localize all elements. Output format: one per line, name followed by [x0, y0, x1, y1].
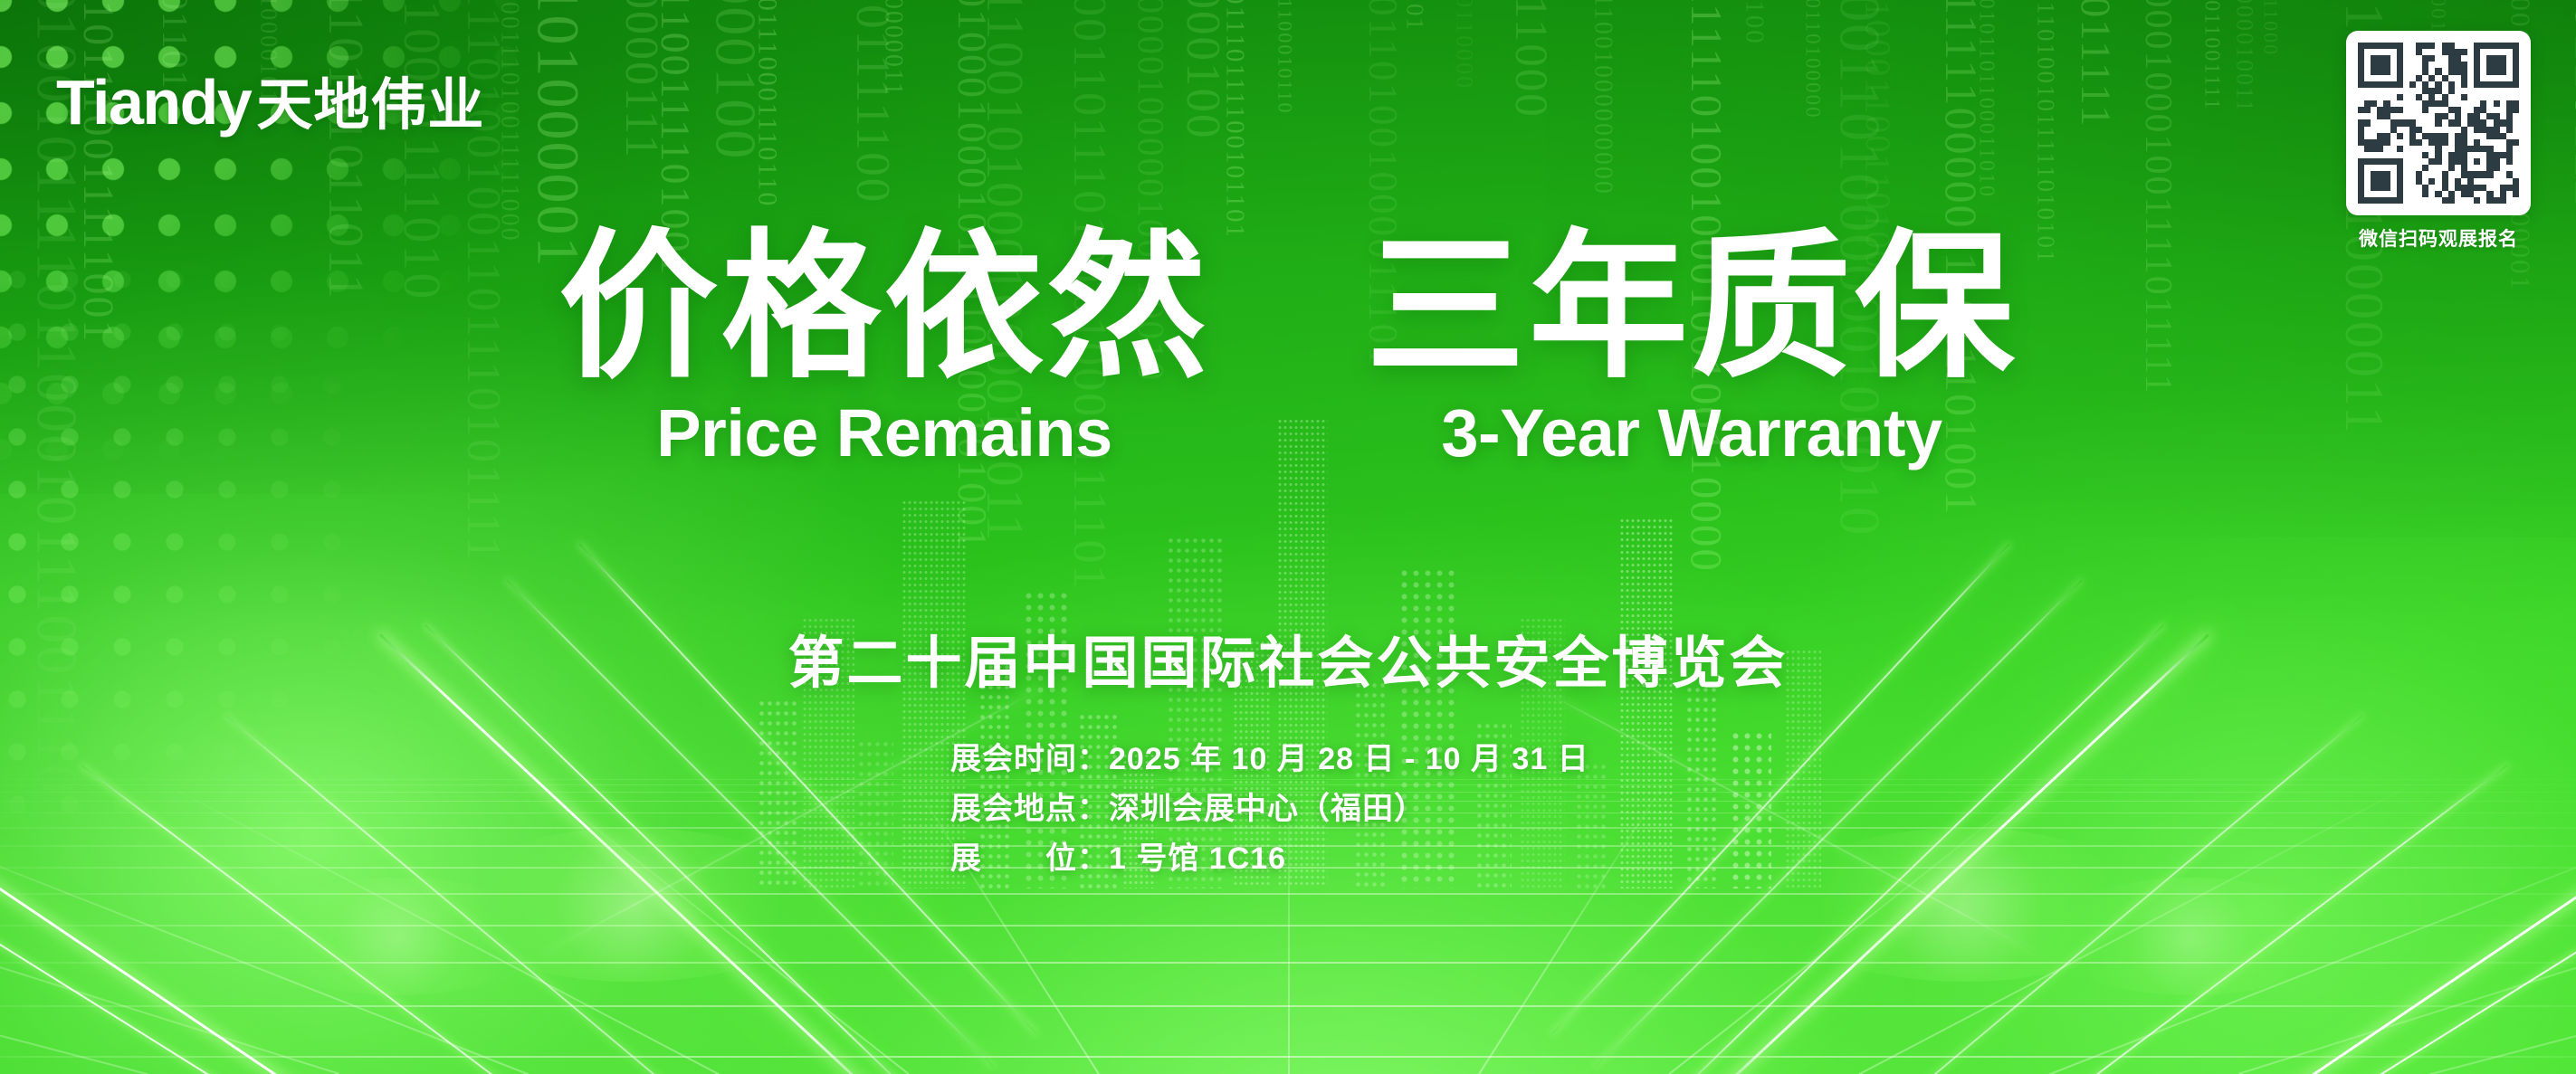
qr-module [2403, 119, 2409, 126]
qr-module [2513, 81, 2519, 88]
qr-module [2506, 55, 2513, 62]
qr-module [2409, 197, 2416, 204]
qr-module [2461, 191, 2467, 197]
qr-module [2422, 88, 2428, 94]
qr-module [2422, 178, 2428, 185]
qr-module [2455, 158, 2461, 165]
qr-module [2358, 146, 2364, 152]
qr-module [2435, 133, 2441, 139]
qr-module [2467, 81, 2474, 88]
qr-module [2486, 191, 2493, 197]
qr-module [2500, 158, 2506, 165]
qr-module [2513, 191, 2519, 197]
qr-module [2513, 165, 2519, 171]
qr-module [2383, 81, 2390, 88]
qr-module [2494, 146, 2500, 152]
qr-module [2428, 107, 2435, 113]
qr-module [2448, 158, 2455, 165]
qr-module [2474, 185, 2480, 191]
qr-module [2358, 81, 2364, 88]
qr-module [2461, 88, 2467, 94]
qr-module [2435, 197, 2441, 204]
qr-module [2461, 75, 2467, 81]
qr-module [2506, 75, 2513, 81]
qr-module [2435, 49, 2441, 55]
qr-module [2513, 113, 2519, 119]
qr-module [2442, 49, 2448, 55]
qr-module [2435, 81, 2441, 88]
light-glow-spot [2041, 878, 2340, 995]
qr-module [2494, 127, 2500, 133]
qr-module [2455, 55, 2461, 62]
qr-module [2397, 165, 2403, 171]
qr-module [2428, 191, 2435, 197]
qr-module [2422, 62, 2428, 68]
qr-module [2486, 146, 2493, 152]
qr-module [2461, 107, 2467, 113]
qr-module [2358, 139, 2364, 146]
qr-module [2480, 94, 2486, 100]
qr-module [2494, 68, 2500, 74]
qr-module [2435, 191, 2441, 197]
qr-module [2486, 43, 2493, 49]
qr-module [2428, 139, 2435, 146]
qr-module [2506, 146, 2513, 152]
qr-module [2358, 119, 2364, 126]
qr-module [2500, 49, 2506, 55]
qr-module [2422, 43, 2428, 49]
qr-module [2397, 43, 2403, 49]
qr-module [2371, 107, 2377, 113]
qr-module [2435, 119, 2441, 126]
qr-module [2358, 68, 2364, 74]
qr-module [2403, 178, 2409, 185]
qr-module [2377, 171, 2383, 177]
qr-module [2500, 197, 2506, 204]
qr-module [2448, 191, 2455, 197]
qr-module [2474, 158, 2480, 165]
qr-module [2383, 146, 2390, 152]
qr-module [2474, 94, 2480, 100]
qr-module [2390, 94, 2397, 100]
qr-module [2358, 197, 2364, 204]
qr-module [2371, 119, 2377, 126]
qr-module [2390, 119, 2397, 126]
qr-module [2461, 171, 2467, 177]
qr-module [2371, 94, 2377, 100]
qr-module [2467, 178, 2474, 185]
qr-module [2474, 68, 2480, 74]
qr-module [2500, 100, 2506, 107]
qr-module [2422, 55, 2428, 62]
event-detail-value: 1 号馆 1C16 [1109, 834, 1286, 884]
qr-module [2422, 185, 2428, 191]
qr-module [2480, 158, 2486, 165]
qr-module [2371, 43, 2377, 49]
qr-module [2486, 119, 2493, 126]
qr-module [2435, 62, 2441, 68]
qr-module [2377, 88, 2383, 94]
qr-module [2500, 146, 2506, 152]
qr-module [2390, 171, 2397, 177]
qr-module [2422, 139, 2428, 146]
qr-module [2397, 171, 2403, 177]
qr-module [2428, 133, 2435, 139]
qr-module [2390, 158, 2397, 165]
qr-module [2371, 197, 2377, 204]
qr-module [2455, 75, 2461, 81]
event-detail-row: 展会时间：2025 年 10 月 28 日 - 10 月 31 日 [950, 735, 1589, 784]
qr-module [2513, 158, 2519, 165]
qr-module [2428, 68, 2435, 74]
qr-module [2358, 43, 2364, 49]
qr-module [2448, 119, 2455, 126]
headline-right: 三年质保 3-Year Warranty [1366, 228, 2018, 467]
qr-module [2480, 165, 2486, 171]
qr-module [2435, 55, 2441, 62]
qr-module [2480, 49, 2486, 55]
qr-module [2455, 191, 2461, 197]
qr-module [2409, 43, 2416, 49]
qr-module [2442, 62, 2448, 68]
qr-module [2506, 43, 2513, 49]
qr-module [2506, 107, 2513, 113]
qr-module [2448, 197, 2455, 204]
qr-module [2461, 152, 2467, 158]
qr-module [2422, 197, 2428, 204]
qr-module [2461, 68, 2467, 74]
qr-module [2486, 94, 2493, 100]
qr-module [2506, 158, 2513, 165]
qr-module [2397, 75, 2403, 81]
event-detail-row: 展 位：1 号馆 1C16 [950, 834, 1589, 884]
qr-module [2371, 55, 2377, 62]
qr-module [2383, 75, 2390, 81]
qr-module [2358, 100, 2364, 107]
qr-module [2467, 185, 2474, 191]
qr-module [2371, 139, 2377, 146]
qr-module [2390, 178, 2397, 185]
qr-module [2422, 49, 2428, 55]
qr-module [2364, 139, 2371, 146]
qr-module [2397, 62, 2403, 68]
qr-module [2435, 68, 2441, 74]
qr-module [2448, 55, 2455, 62]
qr-module [2506, 88, 2513, 94]
qr-module [2486, 100, 2493, 107]
qr-module [2500, 178, 2506, 185]
qr-module [2448, 75, 2455, 81]
qr-module [2500, 139, 2506, 146]
qr-module [2403, 43, 2409, 49]
qr-module [2397, 158, 2403, 165]
qr-module [2422, 68, 2428, 74]
qr-module [2461, 113, 2467, 119]
qr-module [2486, 133, 2493, 139]
qr-module [2506, 197, 2513, 204]
qr-module [2467, 197, 2474, 204]
qr-module [2474, 197, 2480, 204]
qr-module [2500, 81, 2506, 88]
qr-module [2480, 81, 2486, 88]
qr-module [2442, 88, 2448, 94]
qr-module [2435, 75, 2441, 81]
qr-module [2390, 107, 2397, 113]
qr-module [2428, 75, 2435, 81]
qr-module [2397, 94, 2403, 100]
qr-module [2383, 49, 2390, 55]
qr-module [2409, 133, 2416, 139]
qr-module [2467, 133, 2474, 139]
qr-module [2416, 55, 2422, 62]
qr-module [2480, 146, 2486, 152]
qr-module [2416, 119, 2422, 126]
qr-module [2358, 152, 2364, 158]
qr-module [2435, 94, 2441, 100]
qr-module [2474, 119, 2480, 126]
qr-module [2390, 88, 2397, 94]
qr-module [2390, 81, 2397, 88]
qr-module [2371, 127, 2377, 133]
qr-module [2390, 127, 2397, 133]
qr-module [2448, 178, 2455, 185]
neon-light-streaks [0, 0, 2576, 1074]
qr-module [2377, 197, 2383, 204]
qr-module [2377, 94, 2383, 100]
qr-module [2435, 165, 2441, 171]
qr-module [2486, 75, 2493, 81]
qr-module [2428, 158, 2435, 165]
qr-module [2364, 185, 2371, 191]
qr-module [2364, 88, 2371, 94]
qr-module [2358, 158, 2364, 165]
qr-module [2506, 94, 2513, 100]
qr-module [2455, 43, 2461, 49]
qr-module [2455, 100, 2461, 107]
qr-module [2390, 152, 2397, 158]
qr-module [2403, 152, 2409, 158]
qr-module [2403, 197, 2409, 204]
qr-module [2467, 107, 2474, 113]
qr-module [2455, 62, 2461, 68]
qr-module [2474, 133, 2480, 139]
qr-module [2428, 146, 2435, 152]
qr-module [2403, 75, 2409, 81]
qr-module [2461, 139, 2467, 146]
qr-module [2467, 158, 2474, 165]
qr-module [2383, 152, 2390, 158]
qr-module [2409, 185, 2416, 191]
qr-module [2435, 158, 2441, 165]
qr-module [2409, 75, 2416, 81]
qr-module [2403, 100, 2409, 107]
qr-code-icon[interactable] [2358, 43, 2519, 204]
qr-module [2494, 197, 2500, 204]
qr-module [2403, 158, 2409, 165]
qr-module [2442, 171, 2448, 177]
qr-module [2428, 81, 2435, 88]
qr-module [2377, 133, 2383, 139]
qr-module [2416, 197, 2422, 204]
qr-module [2513, 185, 2519, 191]
qr-module [2428, 178, 2435, 185]
qr-module [2416, 158, 2422, 165]
qr-module [2448, 68, 2455, 74]
qr-module [2390, 191, 2397, 197]
qr-module [2513, 146, 2519, 152]
qr-module [2358, 127, 2364, 133]
qr-module [2506, 178, 2513, 185]
qr-module [2422, 171, 2428, 177]
qr-module [2364, 81, 2371, 88]
qr-module [2409, 127, 2416, 133]
qr-module [2442, 113, 2448, 119]
qr-module [2448, 113, 2455, 119]
qr-module [2422, 100, 2428, 107]
headline-left: 价格依然 Price Remains [558, 228, 1210, 467]
qr-module [2422, 81, 2428, 88]
qr-module [2513, 68, 2519, 74]
qr-module [2513, 43, 2519, 49]
qr-module [2500, 107, 2506, 113]
qr-module [2486, 171, 2493, 177]
qr-module [2455, 88, 2461, 94]
qr-module [2390, 43, 2397, 49]
qr-module [2377, 139, 2383, 146]
qr-module [2377, 55, 2383, 62]
qr-module [2486, 62, 2493, 68]
qr-module [2409, 94, 2416, 100]
qr-module [2416, 146, 2422, 152]
qr-module [2403, 55, 2409, 62]
qr-module [2383, 197, 2390, 204]
qr-module [2486, 107, 2493, 113]
qr-module [2428, 113, 2435, 119]
qr-module [2480, 113, 2486, 119]
qr-module [2422, 133, 2428, 139]
qr-module [2474, 107, 2480, 113]
qr-module [2480, 178, 2486, 185]
qr-module [2422, 152, 2428, 158]
qr-module [2435, 178, 2441, 185]
qr-module [2467, 119, 2474, 126]
qr-module [2364, 152, 2371, 158]
qr-module [2500, 62, 2506, 68]
qr-module [2442, 55, 2448, 62]
qr-module [2364, 100, 2371, 107]
qr-module [2403, 113, 2409, 119]
qr-module [2480, 55, 2486, 62]
qr-module [2455, 127, 2461, 133]
qr-module [2494, 55, 2500, 62]
qr-module [2428, 49, 2435, 55]
qr-module [2409, 81, 2416, 88]
qr-module [2364, 55, 2371, 62]
qr-module [2480, 88, 2486, 94]
qr-module [2428, 165, 2435, 171]
qr-module [2500, 152, 2506, 158]
event-detail-label: 展会时间： [950, 735, 1109, 784]
qr-module [2390, 146, 2397, 152]
qr-module [2474, 62, 2480, 68]
qr-module [2494, 88, 2500, 94]
qr-module [2467, 139, 2474, 146]
qr-module [2480, 100, 2486, 107]
qr-module [2506, 68, 2513, 74]
qr-module [2448, 81, 2455, 88]
qr-module [2371, 152, 2377, 158]
qr-registration-block[interactable]: 微信扫码观展报名 [2341, 31, 2536, 252]
qr-module [2403, 68, 2409, 74]
qr-module [2383, 62, 2390, 68]
qr-module [2474, 75, 2480, 81]
qr-module [2480, 62, 2486, 68]
qr-module [2455, 107, 2461, 113]
qr-module [2500, 165, 2506, 171]
qr-module [2442, 81, 2448, 88]
qr-module [2480, 68, 2486, 74]
qr-module [2474, 100, 2480, 107]
qr-module [2390, 49, 2397, 55]
promo-banner: 1101001011110110001011100111001101011100… [0, 0, 2576, 1074]
qr-module [2377, 146, 2383, 152]
qr-module [2416, 113, 2422, 119]
tiandy-logo: Tiandy 天地伟业 [56, 71, 484, 134]
qr-module [2397, 49, 2403, 55]
qr-module [2486, 197, 2493, 204]
qr-module [2494, 94, 2500, 100]
qr-module [2390, 113, 2397, 119]
qr-module [2506, 62, 2513, 68]
qr-module [2416, 185, 2422, 191]
qr-module [2506, 139, 2513, 146]
qr-module [2467, 62, 2474, 68]
qr-module [2448, 62, 2455, 68]
qr-module [2371, 191, 2377, 197]
qr-module [2474, 55, 2480, 62]
qr-module [2397, 185, 2403, 191]
qr-module [2494, 113, 2500, 119]
qr-module [2383, 165, 2390, 171]
qr-module [2494, 165, 2500, 171]
qr-module [2448, 100, 2455, 107]
qr-module [2403, 191, 2409, 197]
qr-module [2397, 139, 2403, 146]
qr-module [2358, 88, 2364, 94]
qr-module [2364, 197, 2371, 204]
qr-code-card[interactable] [2346, 31, 2531, 215]
qr-module [2467, 55, 2474, 62]
qr-module [2403, 185, 2409, 191]
qr-module [2409, 49, 2416, 55]
qr-module [2428, 185, 2435, 191]
qr-module [2403, 165, 2409, 171]
qr-module [2500, 119, 2506, 126]
qr-module [2442, 165, 2448, 171]
qr-module [2461, 55, 2467, 62]
qr-module [2409, 62, 2416, 68]
qr-module [2371, 81, 2377, 88]
qr-module [2422, 146, 2428, 152]
qr-module [2442, 94, 2448, 100]
qr-module [2486, 49, 2493, 55]
qr-module [2371, 113, 2377, 119]
qr-module [2422, 119, 2428, 126]
qr-module [2358, 165, 2364, 171]
qr-module [2435, 127, 2441, 133]
qr-module [2371, 146, 2377, 152]
qr-module [2383, 191, 2390, 197]
